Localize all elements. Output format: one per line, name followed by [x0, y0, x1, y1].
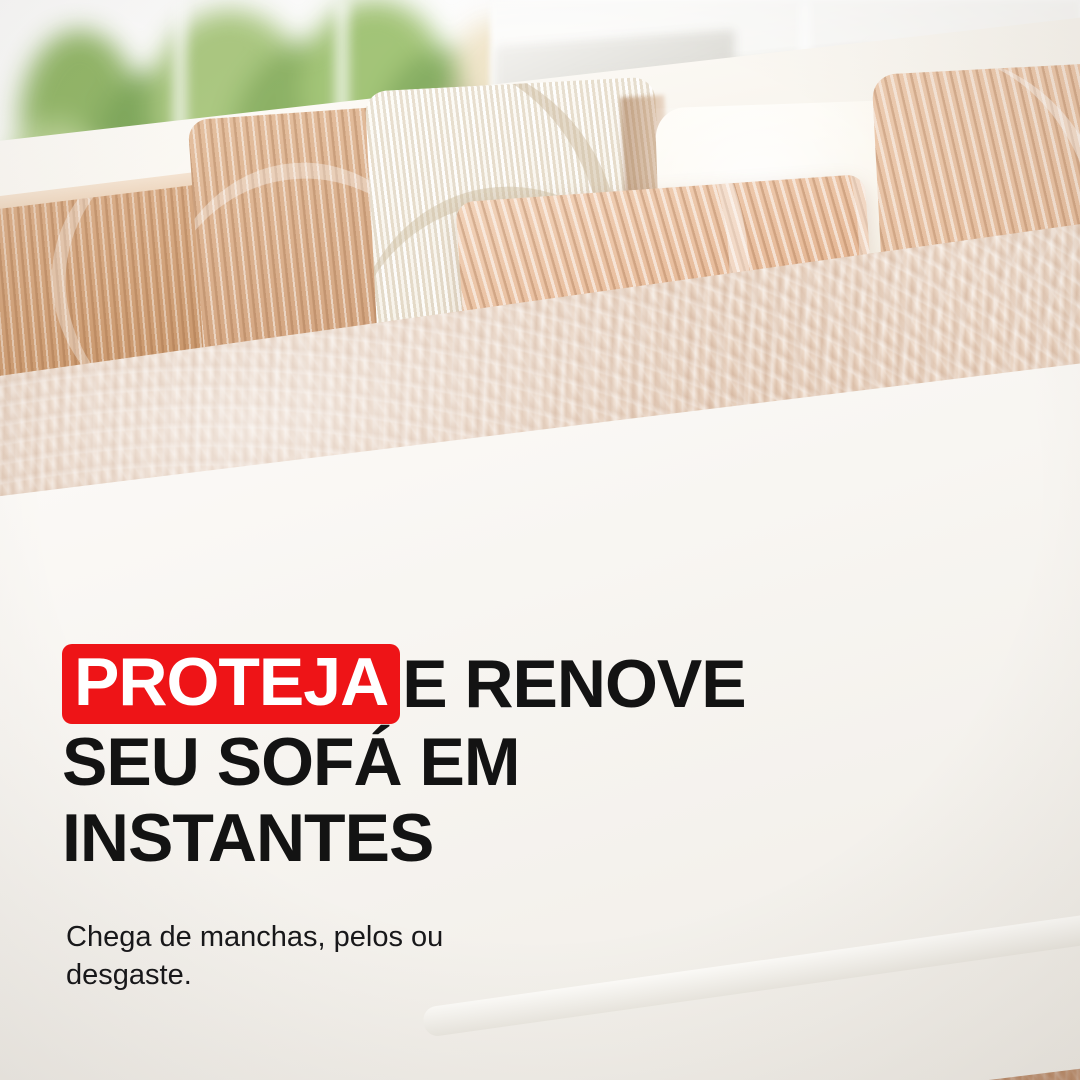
headline-block: PROTEJA E RENOVE SEU SOFÁ EM INSTANTES: [62, 644, 962, 876]
marketing-text-overlay: PROTEJA E RENOVE SEU SOFÁ EM INSTANTES C…: [0, 0, 1080, 1080]
headline-line-2: SEU SOFÁ EM: [62, 724, 962, 800]
ad-creative-canvas: PROTEJA E RENOVE SEU SOFÁ EM INSTANTES C…: [0, 0, 1080, 1080]
headline-line-1: PROTEJA E RENOVE: [62, 644, 962, 724]
subtitle-text: Chega de manchas, pelos ou desgaste.: [66, 918, 496, 994]
headline-line-1-rest: E RENOVE: [402, 648, 745, 720]
headline-line-3: INSTANTES: [62, 800, 962, 876]
highlight-badge-proteja: PROTEJA: [62, 644, 400, 724]
